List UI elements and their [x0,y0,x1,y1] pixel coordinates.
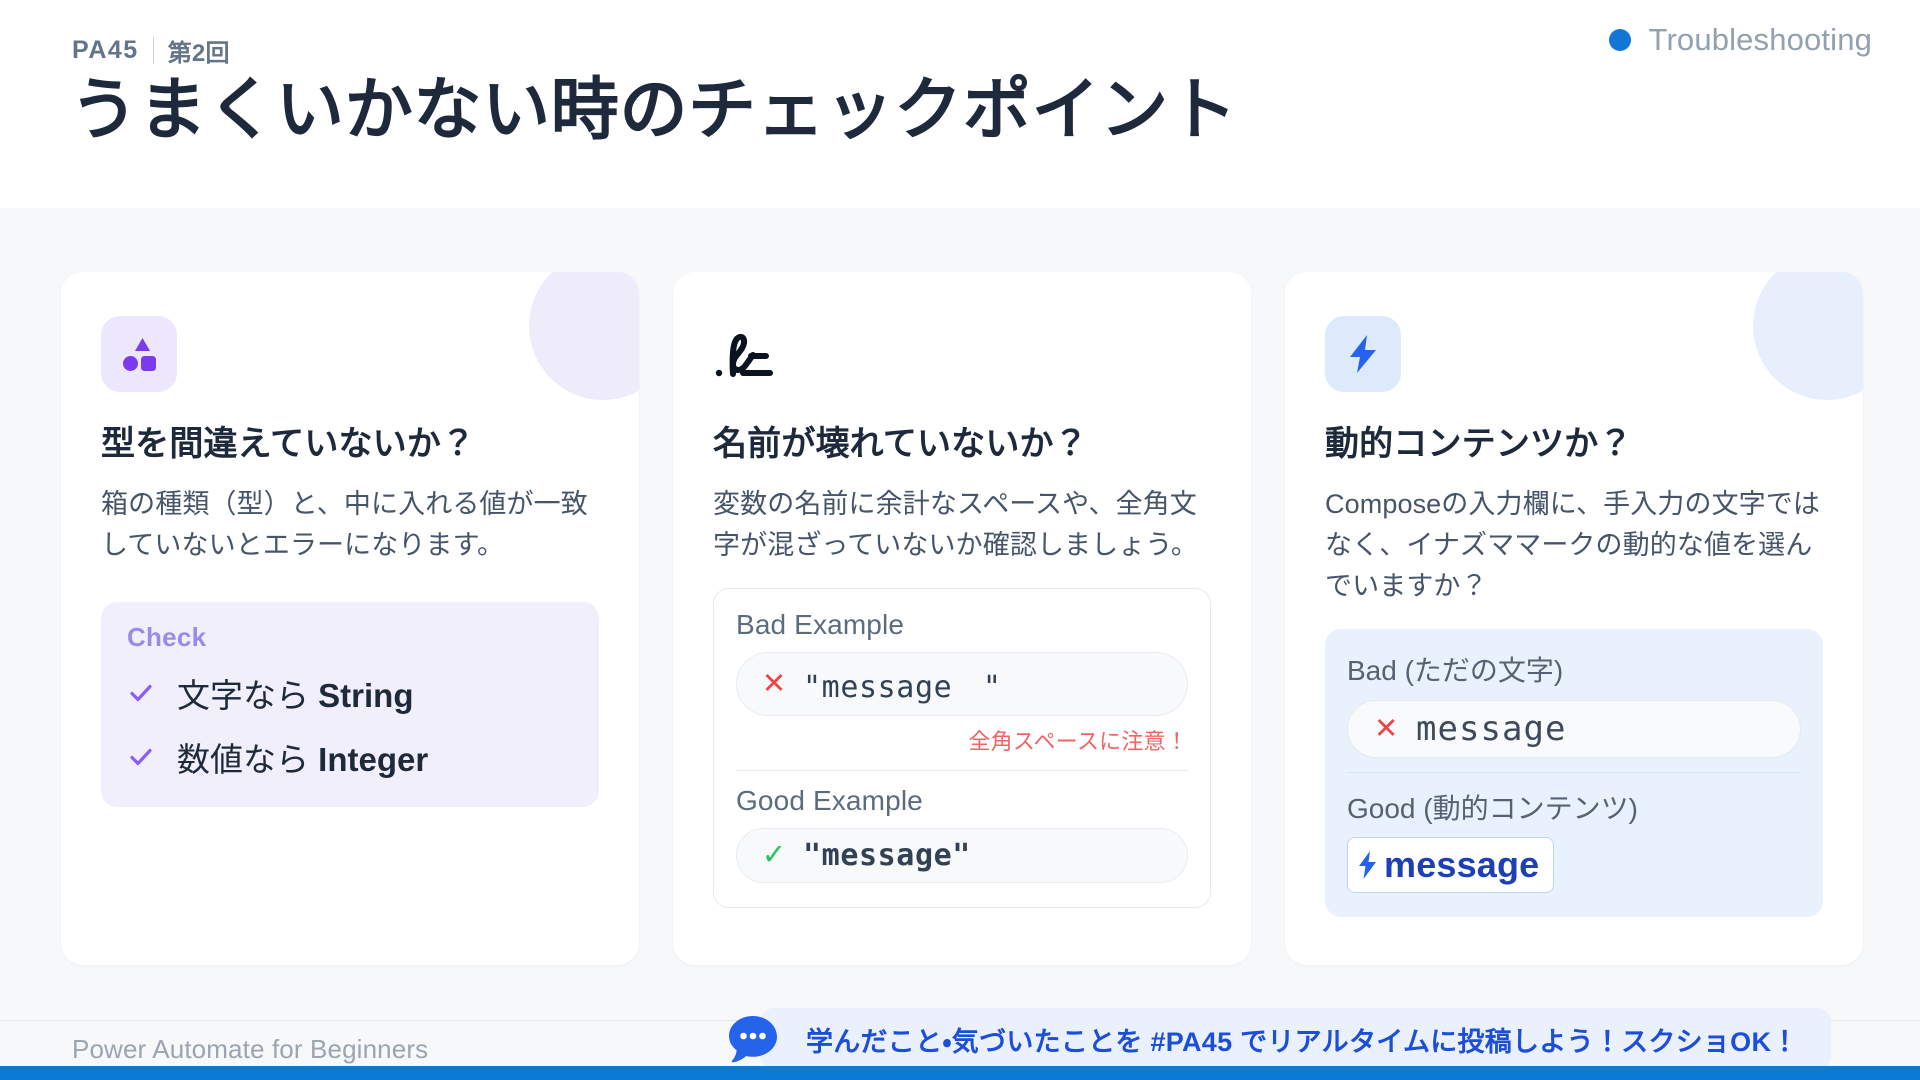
cta-text: 学んだこと・気づいたことを #PA45 でリアルタイムに投稿しよう！スクショOK… [806,1020,1799,1059]
chat-bubble-icon [726,1012,780,1066]
dynamic-content-token: message [1347,837,1554,893]
good-dynamic-label: Good (動的コンテンツ) [1347,787,1801,827]
badge-dot-icon [1609,29,1631,51]
footer-brand: Power Automate for Beginners [72,1034,428,1065]
good-code-text: "message" [803,838,971,873]
cta-banner: 学んだこと・気づいたことを #PA45 でリアルタイムに投稿しよう！スクショOK… [760,1008,1831,1070]
good-example-label: Good Example [736,785,1188,817]
lightning-bolt-icon [1325,316,1401,392]
bad-code-text: "message " [803,662,1002,706]
cross-icon: ✕ [761,670,787,699]
card-title: 型を間違えていないか？ [101,422,599,466]
check-item-text: 文字なら String [177,669,414,717]
dynamic-token-label: message [1384,844,1539,886]
slide-root: PA45 第2回 うまくいかない時のチェックポイント Troubleshooti… [0,0,1920,1080]
slide-footer: Power Automate for Beginners 学んだこと・気づいたこ… [0,1000,1920,1080]
bad-dynamic-label: Bad (ただの文字) [1347,655,1563,686]
check-item-prefix: 文字なら [177,677,318,714]
check-icon [127,679,155,707]
card-broken-name: 名前が壊れていないか？ 変数の名前に余計なスペースや、全角文字が混ざっていないか… [673,272,1251,965]
dynamic-panel: Bad (ただの文字) ✕ message Good (動的コンテンツ) [1325,629,1823,917]
card-description: 変数の名前に余計なスペースや、全角文字が混ざっていないか確認しましょう。 [713,484,1211,566]
signature-icon [713,316,789,392]
check-panel-label: Check [127,622,573,653]
card-title: 名前が壊れていないか？ [713,422,1211,466]
good-code-pill: ✓ "message" [736,828,1188,883]
check-icon [127,743,155,771]
page-title: うまくいかない時のチェックポイント [70,70,1238,150]
bad-code-pill: ✕ "message " [736,652,1188,716]
slide-header: PA45 第2回 うまくいかない時のチェックポイント Troubleshooti… [0,0,1920,208]
lightning-bolt-icon [1356,850,1378,880]
bad-example-label: Bad Example [736,609,904,640]
panel-divider [736,770,1188,771]
check-item-strong: Integer [318,741,428,778]
eyebrow-code: PA45 [72,36,139,65]
cross-icon: ✕ [1374,715,1398,744]
card-description: 箱の種類（型）と、中に入れる値が一致していないとエラーになります。 [101,484,599,566]
eyebrow-round: 第2回 [168,33,230,68]
badge-label: Troubleshooting [1649,22,1873,58]
bottom-accent-bar [0,1066,1920,1080]
bad-example-note: 全角スペースに注意！ [736,724,1188,756]
check-panel: Check 文字なら String [101,602,599,807]
bad-dynamic-pill: ✕ message [1347,700,1801,758]
panel-divider [1347,772,1801,773]
cards-row: 型を間違えていないか？ 箱の種類（型）と、中に入れる値が一致していないとエラーに… [0,208,1920,998]
example-panel: Bad Example ✕ "message " 全角スペースに注意！ Good… [713,588,1211,908]
breadcrumb: PA45 第2回 [72,33,230,68]
check-list-item: 数値なら Integer [127,733,573,781]
check-item-prefix: 数値なら [177,741,318,778]
check-icon: ✓ [761,841,787,870]
check-item-strong: String [318,677,413,714]
status-badge: Troubleshooting [1609,22,1873,58]
card-description: Composeの入力欄に、手入力の文字ではなく、イナズママークの動的な値を選んで… [1325,484,1823,607]
card-title: 動的コンテンツか？ [1325,422,1823,466]
eyebrow-divider [153,37,154,64]
card-type-mismatch: 型を間違えていないか？ 箱の種類（型）と、中に入れる値が一致していないとエラーに… [61,272,639,965]
check-list-item: 文字なら String [127,669,573,717]
shapes-icon [101,316,177,392]
bad-dynamic-text: message [1416,709,1566,749]
check-item-text: 数値なら Integer [177,733,428,781]
card-dynamic-content: 動的コンテンツか？ Composeの入力欄に、手入力の文字ではなく、イナズママー… [1285,272,1863,965]
